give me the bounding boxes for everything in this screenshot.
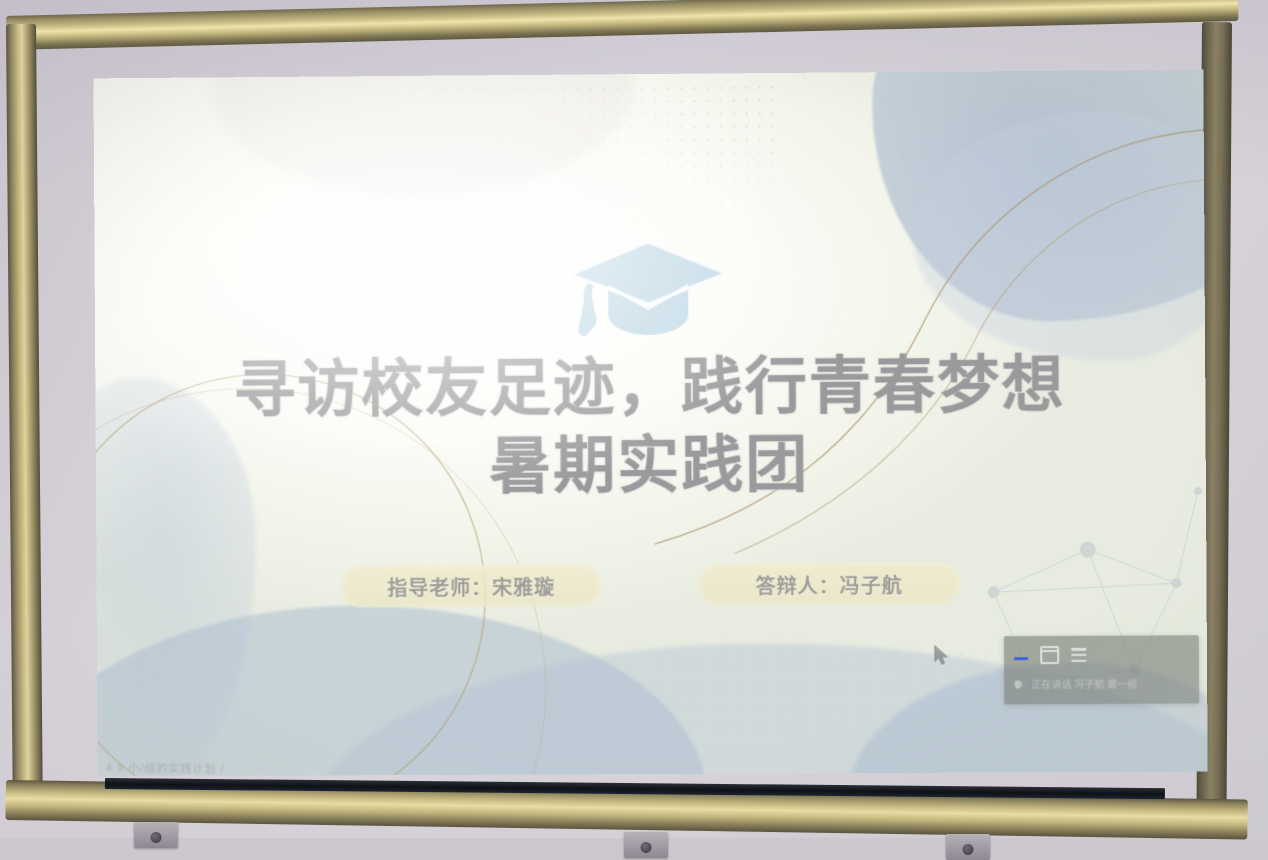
graduation-cap-icon [568, 235, 729, 340]
restore-window-icon[interactable] [1040, 646, 1059, 664]
interactive-whiteboard[interactable]: 寻访校友足迹，践行青春梦想 暑期实践团 指导老师：宋雅璇 答辩人：冯子航 [6, 16, 1254, 816]
slide-credits-row: 指导老师：宋雅璇 答辩人：冯子航 [96, 561, 1206, 609]
presenter-pill: 答辩人：冯子航 [698, 562, 961, 605]
presentation-slide[interactable]: 寻访校友足迹，践行青春梦想 暑期实践团 指导老师：宋雅璇 答辩人：冯子航 [93, 70, 1207, 777]
wall-mount-bracket [134, 822, 178, 848]
projection-screen[interactable]: 寻访校友足迹，践行青春梦想 暑期实践团 指导老师：宋雅璇 答辩人：冯子航 [93, 70, 1207, 777]
speaker-count-badge: 1 [1014, 680, 1022, 688]
minimize-icon[interactable] [1014, 657, 1028, 660]
slide-title-line-1: 寻访校友足迹，践行青春梦想 [95, 346, 1205, 431]
decorative-dot-grid-top [324, 81, 784, 214]
board-status-text: 4 9 小/组的实践计划 / [106, 759, 225, 776]
slide-title-line-2: 暑期实践团 [96, 425, 1206, 510]
wall-mount-bracket [624, 832, 668, 858]
overlay-toolbar[interactable] [1014, 646, 1086, 664]
slide-title: 寻访校友足迹，践行青春梦想 暑期实践团 [95, 346, 1206, 509]
menu-list-icon[interactable] [1071, 648, 1086, 662]
mouse-cursor [934, 645, 950, 667]
advisor-pill: 指导老师：宋雅璇 [340, 564, 602, 607]
speaker-status-text: 正在讲话 冯子航 第一组 [1031, 676, 1137, 692]
frame-rail-left [6, 24, 43, 814]
meeting-overlay-panel[interactable]: 1 正在讲话 冯子航 第一组 [1004, 635, 1199, 704]
overlay-speaker-status: 1 正在讲话 冯子航 第一组 [1014, 675, 1191, 691]
